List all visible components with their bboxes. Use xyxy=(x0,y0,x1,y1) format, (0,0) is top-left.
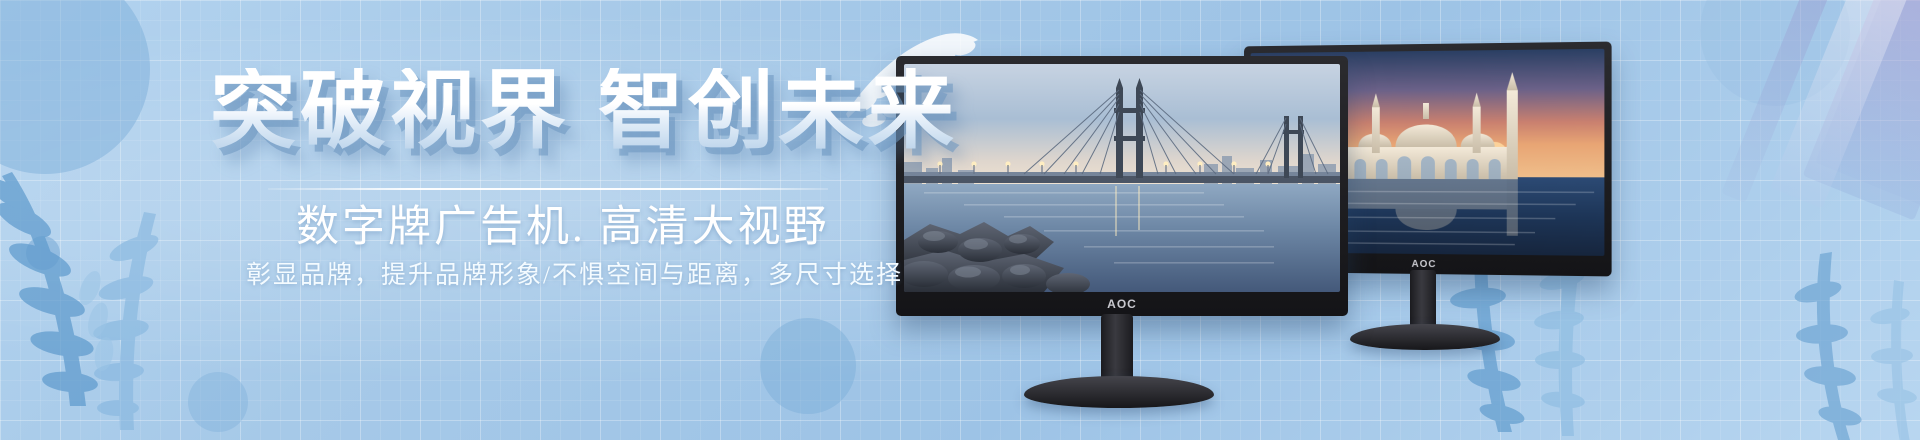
title-divider xyxy=(268,188,828,190)
leaf-far-right-icon xyxy=(1790,250,1920,440)
monitor-right-stand-base xyxy=(1350,324,1500,350)
page-title: 突破视界 智创未来 xyxy=(210,68,958,154)
headline-block: 突破视界 智创未来 数字牌广告机. 高清大视野 彰显品牌，提升品牌形象/不惧空间… xyxy=(0,0,900,440)
monitor-right-brand-label: AOC xyxy=(1412,259,1437,270)
monitor-left-brand-label: AOC xyxy=(1107,297,1137,311)
promo-banner: AOC xyxy=(0,0,1920,440)
tagline: 彰显品牌，提升品牌形象/不惧空间与距离，多尺寸选择 xyxy=(0,255,1100,291)
monitor-right-stand-neck xyxy=(1410,270,1436,332)
monitor-left-stand-base xyxy=(1024,376,1214,408)
subtitle: 数字牌广告机. 高清大视野 xyxy=(0,192,1100,254)
